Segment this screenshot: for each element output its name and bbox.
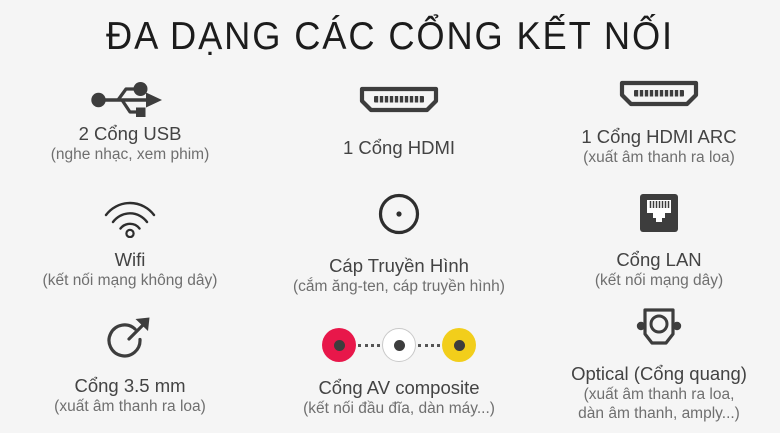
port-label: 1 Cổng HDMI (260, 136, 538, 159)
port-card-lan: Cổng LAN (kết nối mạng dây) (538, 192, 780, 290)
port-card-tv-cable: Cáp Truyền Hình (cắm ăng-ten, cáp truyền… (260, 190, 538, 296)
coaxial-antenna-icon (260, 190, 538, 238)
port-label: Optical (Cổng quang) (538, 362, 780, 385)
port-sublabel: (kết nối mạng dây) (538, 271, 780, 290)
lan-rj45-icon (538, 192, 780, 234)
port-label: Cổng 3.5 mm (0, 374, 260, 397)
port-sublabel: (xuất âm thanh ra loa) (538, 148, 780, 167)
headphone-jack-icon (0, 312, 260, 362)
hdmi-port-icon (260, 84, 538, 116)
port-card-wifi: Wifi (kết nối mạng không dây) (0, 196, 260, 290)
rca-connector-line (358, 344, 380, 347)
rca-core (394, 340, 405, 351)
wifi-icon (0, 196, 260, 238)
port-label: Cổng LAN (538, 248, 780, 271)
rca-core (334, 340, 345, 351)
port-sublabel: (xuất âm thanh ra loa) (0, 397, 260, 416)
port-sublabel-line2: dàn âm thanh, amply...) (538, 404, 780, 423)
rca-jack-red (322, 328, 356, 362)
rca-connector-line (418, 344, 440, 347)
port-sublabel: (cắm ăng-ten, cáp truyền hình) (260, 277, 538, 296)
usb-icon (0, 78, 260, 122)
rca-jack-yellow (442, 328, 476, 362)
port-sublabel-line1: (xuất âm thanh ra loa, (538, 385, 780, 404)
port-label: 2 Cổng USB (0, 122, 260, 145)
port-sublabel: (kết nối đầu đĩa, dàn máy...) (260, 399, 538, 418)
port-label: 1 Cổng HDMI ARC (538, 125, 780, 148)
port-label: Wifi (0, 248, 260, 271)
port-card-hdmi-arc: 1 Cổng HDMI ARC (xuất âm thanh ra loa) (538, 78, 780, 167)
port-card-av-composite: Cổng AV composite (kết nối đầu đĩa, dàn … (260, 325, 538, 418)
port-card-hdmi: 1 Cổng HDMI (260, 84, 538, 159)
rca-jack-white (382, 328, 416, 362)
av-composite-icon (260, 325, 538, 365)
port-sublabel: (nghe nhạc, xem phim) (0, 145, 260, 164)
hdmi-arc-port-icon (538, 78, 780, 110)
port-label: Cổng AV composite (260, 376, 538, 399)
connectivity-infographic: ĐA DẠNG CÁC CỔNG KẾT NỐI 2 Cổng USB (ngh… (0, 0, 780, 433)
page-title: ĐA DẠNG CÁC CỔNG KẾT NỐI (27, 14, 752, 60)
port-sublabel: (kết nối mạng không dây) (0, 271, 260, 290)
port-card-jack-35mm: Cổng 3.5 mm (xuất âm thanh ra loa) (0, 312, 260, 416)
optical-toslink-icon (538, 305, 780, 351)
rca-core (454, 340, 465, 351)
port-card-usb: 2 Cổng USB (nghe nhạc, xem phim) (0, 78, 260, 164)
port-label: Cáp Truyền Hình (260, 254, 538, 277)
port-card-optical: Optical (Cổng quang) (xuất âm thanh ra l… (538, 305, 780, 423)
